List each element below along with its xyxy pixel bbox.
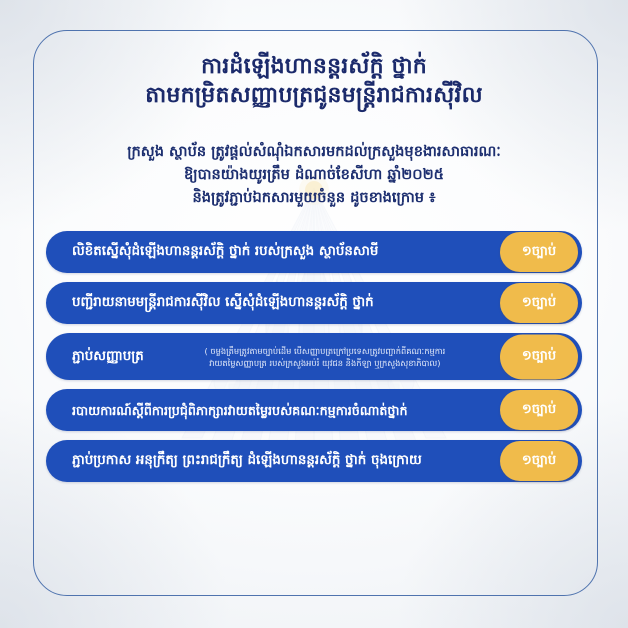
title-line-2: តាមកម្រិតសញ្ញាបត្រជូនមន្ត្រីរាជការស៊ីវិល [46, 81, 582, 110]
list-item-note-line-2: វាយតម្លៃសញ្ញាបត្រ របស់ក្រសួងអប់រំ យុវជន … [154, 357, 496, 369]
list-item[interactable]: លិខិតស្នើសុំដំឡើងហានន្តរស័ក្តិ ថ្នាក់ រប… [46, 231, 582, 273]
poster-canvas: ការដំឡើងហានន្តរស័ក្តិ ថ្នាក់ តាមកម្រិតសញ… [0, 0, 628, 628]
list-item-content: បញ្ជីរាយនាមមន្ត្រីរាជការស៊ីវិល ស្នើសុំដំ… [72, 294, 496, 312]
list-item-content: ភ្ជាប់សញ្ញាបត្រ ( ចម្លងត្រឹមត្រូវតាមច្បា… [72, 345, 496, 369]
list-item[interactable]: បញ្ជីរាយនាមមន្ត្រីរាជការស៊ីវិល ស្នើសុំដំ… [46, 282, 582, 324]
status-badge: ១ច្បាប់ [500, 232, 578, 272]
list-item[interactable]: ភ្ជាប់ប្រកាស អនុក្រឹត្យ ព្រះរាជក្រឹត្យ ដ… [46, 440, 582, 482]
status-badge: ១ច្បាប់ [500, 283, 578, 323]
page-title: ការដំឡើងហានន្តរស័ក្តិ ថ្នាក់ តាមកម្រិតសញ… [46, 52, 582, 110]
list-item-content: ភ្ជាប់ប្រកាស អនុក្រឹត្យ ព្រះរាជក្រឹត្យ ដ… [72, 452, 496, 470]
list-item[interactable]: ភ្ជាប់សញ្ញាបត្រ ( ចម្លងត្រឹមត្រូវតាមច្បា… [46, 333, 582, 380]
poster-content: ការដំឡើងហានន្តរស័ក្តិ ថ្នាក់ តាមកម្រិតសញ… [0, 0, 628, 628]
list-item-label: ភ្ជាប់សញ្ញាបត្រ [72, 348, 144, 366]
requirement-list: លិខិតស្នើសុំដំឡើងហានន្តរស័ក្តិ ថ្នាក់ រប… [46, 231, 582, 482]
status-badge: ១ច្បាប់ [500, 441, 578, 481]
intro-line-1: ក្រសួង ស្ថាប័ន ត្រូវផ្ដល់សំណុំឯកសារមកដល់… [46, 140, 582, 163]
list-item-label: បញ្ជីរាយនាមមន្ត្រីរាជការស៊ីវិល ស្នើសុំដំ… [72, 294, 374, 312]
list-item-label: ភ្ជាប់ប្រកាស អនុក្រឹត្យ ព្រះរាជក្រឹត្យ ដ… [72, 452, 422, 470]
status-badge: ១ច្បាប់ [500, 390, 578, 430]
list-item-content: លិខិតស្នើសុំដំឡើងហានន្តរស័ក្តិ ថ្នាក់ រប… [72, 243, 496, 261]
list-item-note-line-1: ( ចម្លងត្រឹមត្រូវតាមច្បាប់ដើម បើសញ្ញាបត្… [154, 345, 496, 357]
status-badge: ១ច្បាប់ [500, 334, 578, 379]
intro-line-2: ឱ្យបានយ៉ាងយូរត្រឹម ដំណាច់ខែសីហា ឆ្នាំ២០២… [46, 163, 582, 186]
intro-line-3: និងត្រូវភ្ជាប់ឯកសារមួយចំនួន ដូចខាងក្រោម … [46, 186, 582, 209]
title-line-1: ការដំឡើងហានន្តរស័ក្តិ ថ្នាក់ [46, 52, 582, 81]
list-item-label: របាយការណ៍ស្ដីពីការប្រជុំពិភាក្សារវាយតម្ល… [72, 402, 408, 419]
list-item-note: ( ចម្លងត្រឹមត្រូវតាមច្បាប់ដើម បើសញ្ញាបត្… [154, 345, 496, 369]
intro-paragraph: ក្រសួង ស្ថាប័ន ត្រូវផ្ដល់សំណុំឯកសារមកដល់… [46, 140, 582, 209]
list-item[interactable]: របាយការណ៍ស្ដីពីការប្រជុំពិភាក្សារវាយតម្ល… [46, 389, 582, 431]
list-item-label: លិខិតស្នើសុំដំឡើងហានន្តរស័ក្តិ ថ្នាក់ រប… [72, 243, 378, 261]
list-item-content: របាយការណ៍ស្ដីពីការប្រជុំពិភាក្សារវាយតម្ល… [72, 402, 496, 419]
